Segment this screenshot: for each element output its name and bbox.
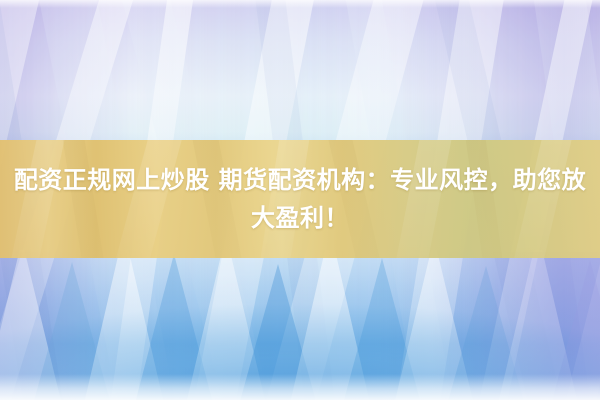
background-bottom-fade — [0, 374, 600, 400]
headline-band: 配资正规网上炒股 期货配资机构：专业风控，助您放大盈利！ — [0, 140, 600, 258]
headline-text: 配资正规网上炒股 期货配资机构：专业风控，助您放大盈利！ — [8, 161, 592, 237]
background-triangle-fans — [0, 250, 600, 400]
promo-banner: 配资正规网上炒股 期货配资机构：专业风控，助您放大盈利！ — [0, 0, 600, 400]
background-top-fade — [0, 0, 600, 8]
background-blue-glow — [0, 252, 600, 400]
